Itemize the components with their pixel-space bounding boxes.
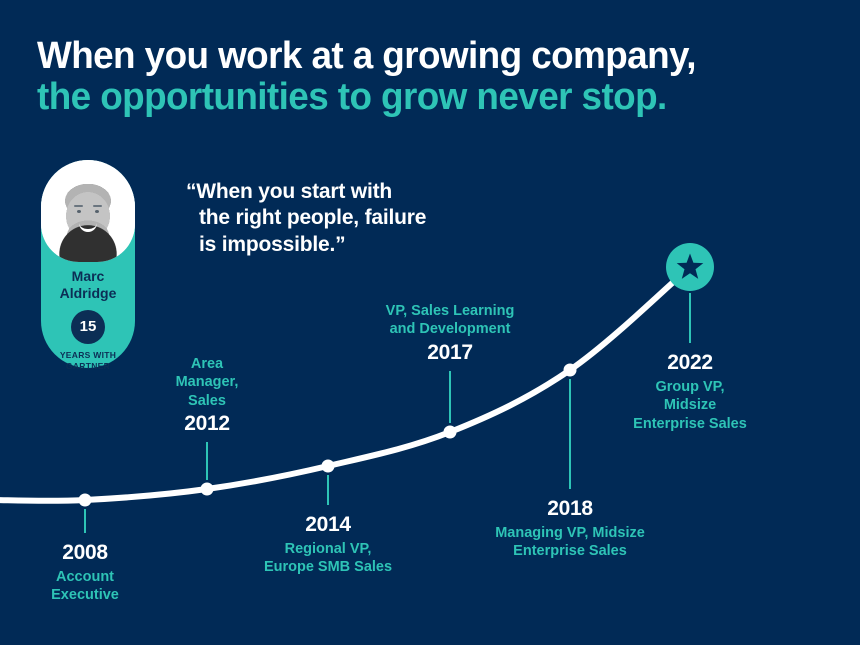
avatar [41,160,135,262]
milestone-dot-2012 [201,483,214,496]
avatar-photo [41,160,135,262]
milestone-role-line: Midsize [540,396,840,414]
milestone-year: 2018 [420,497,720,521]
milestone-role-line: Managing VP, Midsize [420,524,720,542]
milestone-role: Group VP,MidsizeEnterprise Sales [540,378,840,433]
milestone-role-line: Manager, [57,373,357,391]
quote-line-3: is impossible.” [186,232,426,258]
milestone-role-line: Enterprise Sales [540,415,840,433]
milestone-year: 2012 [57,412,357,436]
milestone-dot-2014 [322,460,335,473]
headline-line-1: When you work at a growing company, [37,36,813,77]
milestone-role-line: Sales [57,392,357,410]
avatar-detail [77,210,81,213]
milestone-role-line: Executive [0,586,235,604]
quote-line-1: “When you start with [186,179,426,205]
milestone-2018: 2018Managing VP, MidsizeEnterprise Sales [420,497,720,561]
person-card: Marc Aldridge 15 YEARS WITH GARTNER [41,160,135,368]
avatar-detail [74,205,83,207]
milestone-dot-2017 [444,426,457,439]
pull-quote: “When you start with the right people, f… [186,179,426,258]
milestone-role-line: Europe SMB Sales [178,558,478,576]
years-with-company-badge: 15 [71,310,105,344]
milestone-2012: AreaManager,Sales2012 [57,355,357,436]
star-node-circle [666,243,714,291]
infographic-canvas: When you work at a growing company, the … [0,0,860,645]
milestone-role-line: and Development [300,320,600,338]
milestone-dot-2008 [79,494,92,507]
avatar-detail [95,210,99,213]
quote-line-2: the right people, failure [186,205,426,231]
person-first-name: Marc [41,268,135,285]
person-last-name: Aldridge [41,285,135,302]
headline-line-2: the opportunities to grow never stop. [37,77,813,118]
person-name: Marc Aldridge [41,268,135,301]
star-icon [677,254,704,279]
milestone-role: VP, Sales Learningand Development [300,302,600,339]
milestone-role-line: Enterprise Sales [420,542,720,560]
milestone-2022: 2022Group VP,MidsizeEnterprise Sales [540,351,840,433]
milestone-role-line: VP, Sales Learning [300,302,600,320]
milestone-role-line: Group VP, [540,378,840,396]
milestone-role: Managing VP, MidsizeEnterprise Sales [420,524,720,561]
avatar-detail [93,205,102,207]
milestone-year: 2022 [540,351,840,375]
headline: When you work at a growing company, the … [37,36,837,119]
